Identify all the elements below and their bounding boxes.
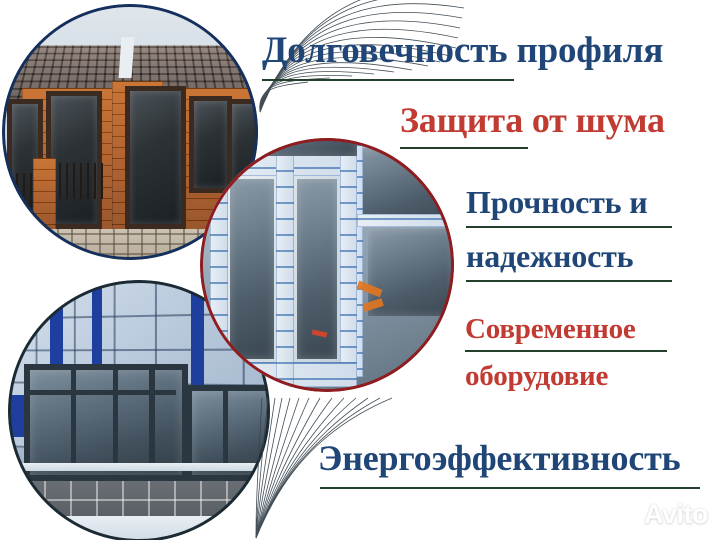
avito-dots-icon [614, 503, 640, 527]
poster-canvas: Долговечность профиля Защита от шума Про… [0, 0, 720, 540]
headline-noise: Защита от шума [400, 99, 665, 141]
avito-watermark: Avito [614, 499, 708, 530]
headline-equipment-line1-underline [465, 350, 667, 352]
headline-equipment-line1: Современное [465, 313, 636, 346]
headline-equipment-line2: оборудовие [465, 360, 608, 393]
headline-durability: Долговечность профиля [262, 29, 663, 72]
photo-veka [200, 138, 454, 392]
headline-efficiency-underline [320, 487, 700, 489]
headline-strength-line2: надежность [466, 238, 633, 275]
headline-strength-line2-underline [466, 280, 672, 282]
headline-efficiency: Энергоэффективность [318, 437, 680, 479]
headline-durability-underline [262, 79, 514, 81]
avito-watermark-label: Avito [644, 499, 708, 530]
headline-strength-line1-underline [466, 226, 672, 228]
headline-noise-underline [400, 147, 528, 149]
headline-strength-line1: Прочность и [466, 184, 647, 221]
